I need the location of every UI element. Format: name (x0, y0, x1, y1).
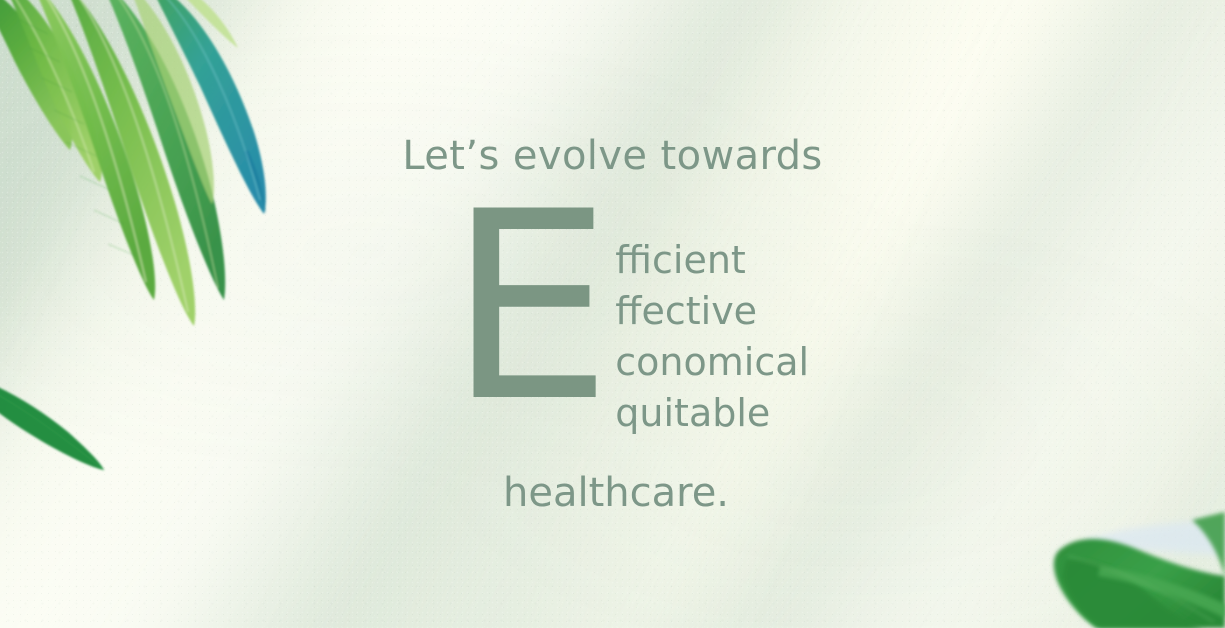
headline-text: Let’s evolve towards (0, 133, 1225, 179)
acrostic-word-efficient: fficient (615, 235, 809, 286)
acrostic-word-economical: conomical (615, 337, 809, 388)
bottom-right-leaf (1054, 512, 1225, 628)
left-edge-leaf (0, 372, 104, 470)
acrostic-word-equitable: quitable (615, 388, 809, 439)
slide-canvas: Let’s evolve towards E fficient ffective… (0, 0, 1225, 628)
acrostic-word-effective: ffective (615, 286, 809, 337)
acrostic-initial-e: E (448, 212, 612, 439)
footline-text: healthcare. (503, 470, 729, 516)
acrostic-word-list: fficient ffective conomical quitable (615, 228, 809, 439)
acrostic-block: E fficient ffective conomical quitable (448, 228, 809, 439)
